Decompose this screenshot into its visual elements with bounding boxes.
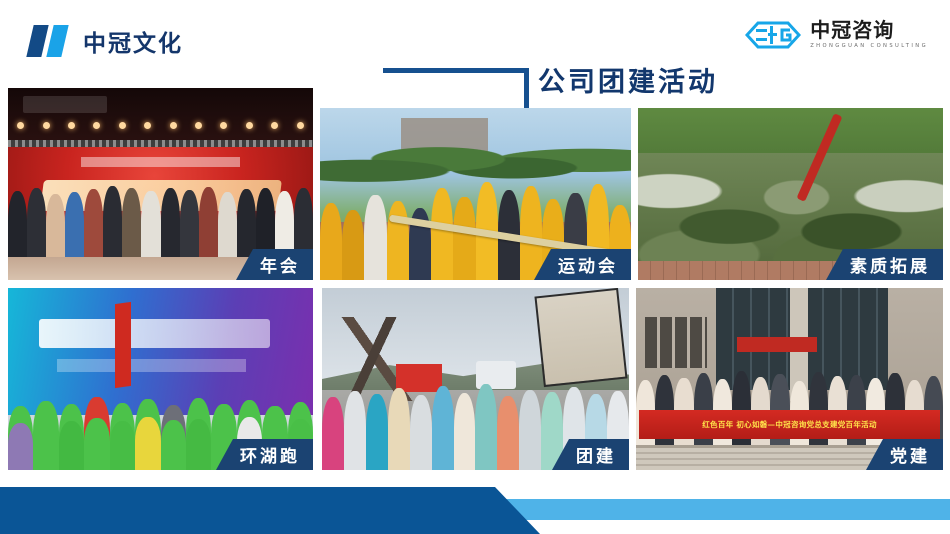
photo-party-building[interactable]: 红色百年 初心如磐—中冠咨询党总支建党百年活动 党建 — [636, 288, 943, 470]
corporate-name: 中冠咨询 ZHONGGUAN CONSULTING — [810, 20, 928, 49]
corporate-name-cn: 中冠咨询 — [810, 20, 928, 40]
corporate-logo: 中冠咨询 ZHONGGUAN CONSULTING — [745, 20, 928, 50]
zg-diamond-icon — [745, 20, 801, 50]
photo-team-building[interactable]: 团建 — [322, 288, 629, 470]
bracket-horizontal-rule — [383, 68, 529, 73]
page-title: 公司团建活动 — [538, 60, 718, 99]
brand-title: 中冠文化 — [83, 24, 183, 58]
photo-outward-bound[interactable]: 素质拓展 — [638, 108, 943, 280]
section-heading: 公司团建活动 — [383, 62, 943, 110]
photo-sports-meet[interactable]: 运动会 — [320, 108, 631, 280]
footer-dark-band — [0, 487, 540, 534]
party-banner-text: 红色百年 初心如磐—中冠咨询党总支建党百年活动 — [702, 419, 877, 430]
photo-annual-meeting[interactable]: 年会 — [8, 88, 313, 280]
brand-mark-icon — [28, 25, 72, 57]
bracket-vertical-rule — [524, 68, 529, 110]
brand-logo: 中冠文化 — [28, 24, 183, 58]
corporate-name-en: ZHONGGUAN CONSULTING — [810, 44, 928, 49]
photo-label-outward-bound: 素质拓展 — [826, 249, 943, 280]
photo-label-lake-run: 环湖跑 — [216, 439, 313, 470]
party-banner: 红色百年 初心如磐—中冠咨询党总支建党百年活动 — [639, 410, 940, 439]
photo-lake-run[interactable]: 环湖跑 — [8, 288, 313, 470]
photo-label-sports-meet: 运动会 — [534, 249, 631, 280]
slide-root: 中冠文化 中冠咨询 ZHONGGUAN CONSULTING 公司团建活动 — [0, 0, 950, 534]
